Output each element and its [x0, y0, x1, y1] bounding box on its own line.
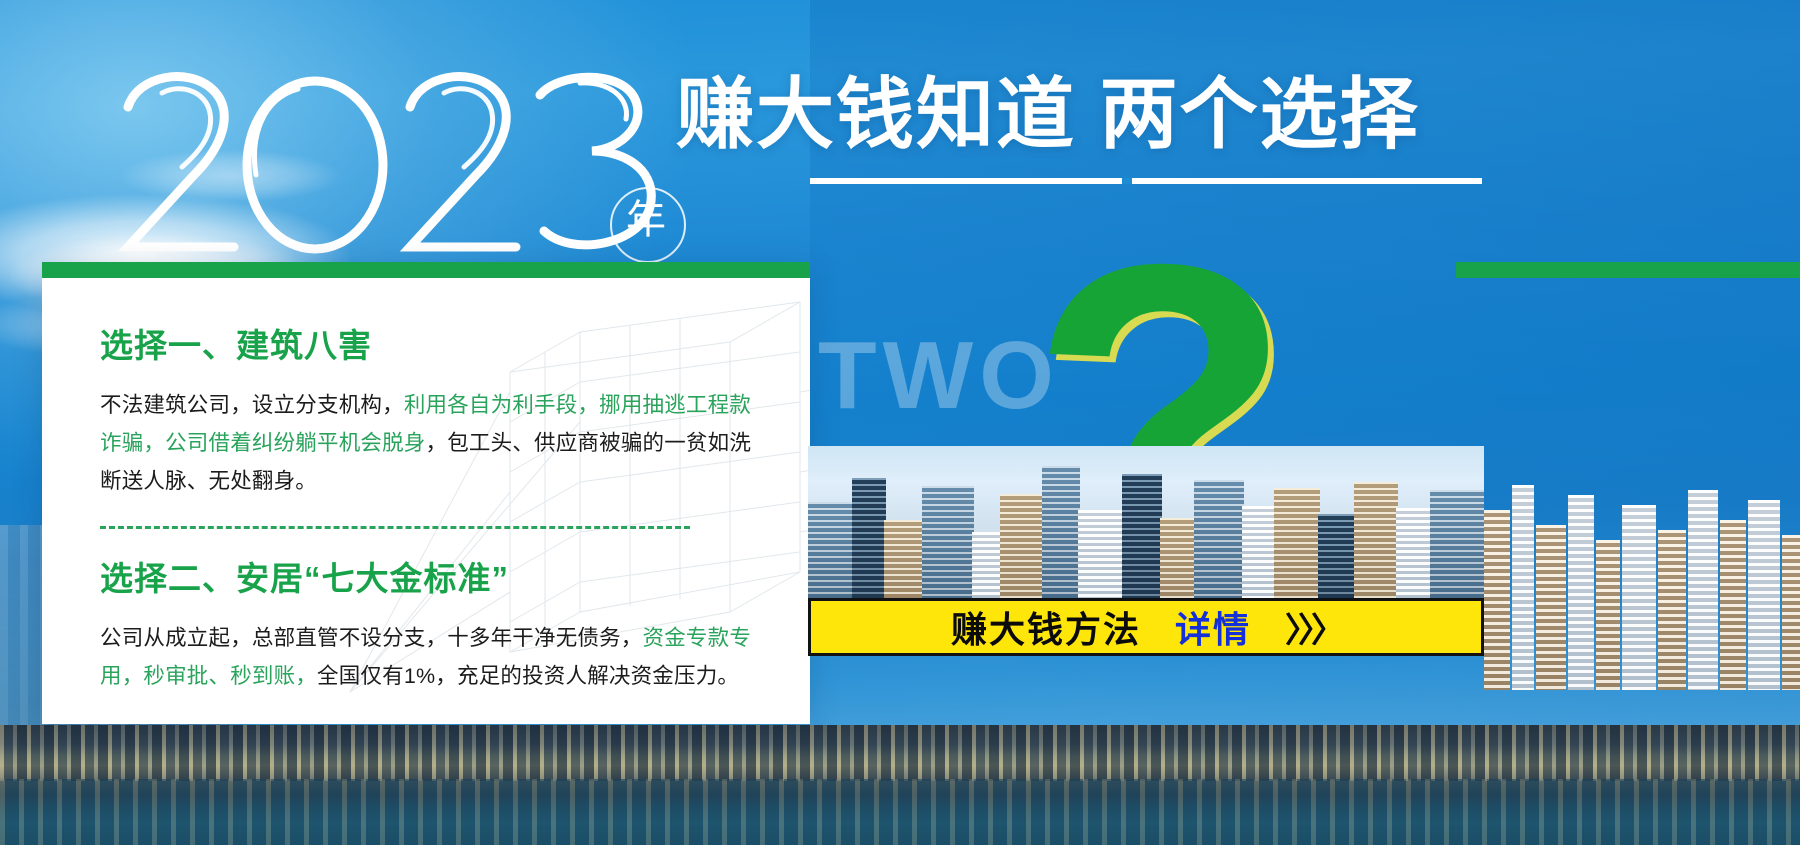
city-skyline-photo	[808, 446, 1484, 606]
section-two-title: 选择二、安居“七大金标准”	[100, 559, 770, 599]
ghost-line-one: TWO	[818, 322, 1060, 429]
section-one: 选择一、建筑八害 不法建筑公司，设立分支机构，利用各自为利手段，挪用抽逃工程款 …	[100, 326, 770, 500]
section-two: 选择二、安居“七大金标准” 公司从成立起，总部直管不设分支，十多年干净无债务，资…	[100, 559, 770, 695]
text-run-highlight: 利用各自为利手段，挪用抽逃工程款	[404, 393, 751, 417]
right-panel: TWO CHOICES ? 赚大钱方法 详情 〉〉〉	[808, 186, 1484, 664]
page-title: 赚大钱知道 两个选择	[676, 72, 1420, 158]
text-run: 公司从成立起，总部直管不设分支，十多年干净无债务，	[100, 626, 643, 650]
text-run: 不法建筑公司，设立分支机构，	[100, 393, 404, 417]
green-accent-bar	[1456, 262, 1800, 278]
text-run: ，包工头、供应商被骗的一贫如洗	[426, 431, 752, 455]
text-run-highlight: 诈骗，公司借着纠纷躺平机会脱身	[100, 431, 426, 455]
paragraph-line: 诈骗，公司借着纠纷躺平机会脱身，包工头、供应商被骗的一贫如洗	[100, 424, 770, 462]
content-card: 选择一、建筑八害 不法建筑公司，设立分支机构，利用各自为利手段，挪用抽逃工程款 …	[42, 262, 810, 724]
cta-detail-link[interactable]: 详情	[1175, 601, 1251, 653]
text-run: 全国仅有1%，充足的投资人解决资金压力。	[317, 664, 739, 688]
section-divider	[100, 526, 690, 529]
card-body: 选择一、建筑八害 不法建筑公司，设立分支机构，利用各自为利手段，挪用抽逃工程款 …	[42, 278, 810, 696]
paragraph-line: 断送人脉、无处翻身。	[100, 462, 770, 500]
section-two-paragraph: 公司从成立起，总部直管不设分支，十多年干净无债务，资金专款专 用，秒审批、秒到账…	[100, 619, 770, 696]
text-run-highlight: 用，秒审批、秒到账，	[100, 664, 317, 688]
section-one-paragraph: 不法建筑公司，设立分支机构，利用各自为利手段，挪用抽逃工程款 诈骗，公司借着纠纷…	[100, 386, 770, 501]
year-graphic: 年	[110, 55, 730, 270]
year-suffix-label: 年	[626, 200, 666, 240]
chevron-right-icon: 〉〉〉	[1285, 603, 1341, 652]
waterfront-photo-strip	[0, 725, 1800, 845]
background-city-right	[1480, 430, 1800, 690]
text-run-highlight: 资金专款专	[643, 626, 752, 650]
paragraph-line: 用，秒审批、秒到账，全国仅有1%，充足的投资人解决资金压力。	[100, 657, 770, 695]
section-one-title: 选择一、建筑八害	[100, 326, 770, 366]
text-run: 断送人脉、无处翻身。	[100, 469, 317, 493]
cta-banner[interactable]: 赚大钱方法 详情 〉〉〉	[808, 598, 1484, 656]
poster-canvas: 年 赚大钱知道 两个选择	[0, 0, 1800, 845]
cta-main-label: 赚大钱方法	[951, 601, 1141, 653]
paragraph-line: 公司从成立起，总部直管不设分支，十多年干净无债务，资金专款专	[100, 619, 770, 657]
paragraph-line: 不法建筑公司，设立分支机构，利用各自为利手段，挪用抽逃工程款	[100, 386, 770, 424]
